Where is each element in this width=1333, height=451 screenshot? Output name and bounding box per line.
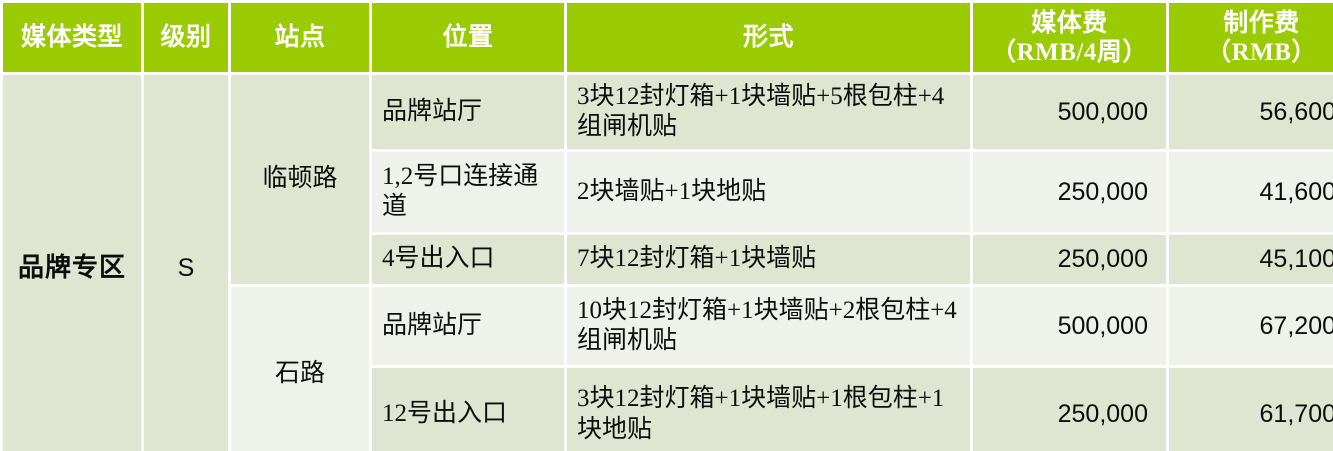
- table-body: 品牌专区 S 临顿路 品牌站厅 3块12封灯箱+1块墙贴+5根包柱+4组闸机贴 …: [3, 75, 1333, 451]
- column-header-station: 站点: [231, 3, 369, 72]
- cell-location: 品牌站厅: [372, 287, 564, 365]
- cell-media-fee: 500,000: [973, 287, 1166, 365]
- column-header-production-fee: 制作费 （RMB）: [1169, 3, 1333, 72]
- cell-location: 12号出入口: [372, 368, 564, 451]
- column-header-production-fee-main: 制作费: [1173, 9, 1333, 38]
- cell-location: 1,2号口连接通道: [372, 152, 564, 232]
- table-row: 品牌专区 S 临顿路 品牌站厅 3块12封灯箱+1块墙贴+5根包柱+4组闸机贴 …: [3, 75, 1333, 149]
- column-header-production-fee-unit: （RMB）: [1173, 38, 1333, 67]
- cell-location: 品牌站厅: [372, 75, 564, 149]
- header-row: 媒体类型 级别 站点 位置 形式 媒体费 （RMB/4周） 制作费 （RMB）: [3, 3, 1333, 72]
- cell-media-fee: 250,000: [973, 152, 1166, 232]
- cell-production-fee: 67,200: [1169, 287, 1333, 365]
- media-rate-table: 媒体类型 级别 站点 位置 形式 媒体费 （RMB/4周） 制作费 （RMB） …: [0, 0, 1333, 451]
- cell-media-type: 品牌专区: [3, 75, 141, 451]
- cell-production-fee: 45,100: [1169, 235, 1333, 284]
- table-header: 媒体类型 级别 站点 位置 形式 媒体费 （RMB/4周） 制作费 （RMB）: [3, 3, 1333, 72]
- cell-format: 2块墙贴+1块地贴: [567, 152, 970, 232]
- cell-production-fee: 61,700: [1169, 368, 1333, 451]
- cell-media-fee: 250,000: [973, 368, 1166, 451]
- cell-level: S: [144, 75, 228, 451]
- cell-station-shilu: 石路: [231, 287, 369, 451]
- cell-station-lindunlu: 临顿路: [231, 75, 369, 284]
- cell-format: 3块12封灯箱+1块墙贴+5根包柱+4组闸机贴: [567, 75, 970, 149]
- column-header-media-fee: 媒体费 （RMB/4周）: [973, 3, 1166, 72]
- column-header-level: 级别: [144, 3, 228, 72]
- column-header-location: 位置: [372, 3, 564, 72]
- column-header-media-fee-unit: （RMB/4周）: [977, 38, 1162, 67]
- cell-media-fee: 250,000: [973, 235, 1166, 284]
- column-header-format: 形式: [567, 3, 970, 72]
- cell-format: 7块12封灯箱+1块墙贴: [567, 235, 970, 284]
- column-header-media-fee-main: 媒体费: [977, 9, 1162, 38]
- cell-format: 3块12封灯箱+1块墙贴+1根包柱+1块地贴: [567, 368, 970, 451]
- cell-production-fee: 41,600: [1169, 152, 1333, 232]
- cell-location: 4号出入口: [372, 235, 564, 284]
- column-header-media-type: 媒体类型: [3, 3, 141, 72]
- cell-media-fee: 500,000: [973, 75, 1166, 149]
- cell-format: 10块12封灯箱+1块墙贴+2根包柱+4组闸机贴: [567, 287, 970, 365]
- cell-production-fee: 56,600: [1169, 75, 1333, 149]
